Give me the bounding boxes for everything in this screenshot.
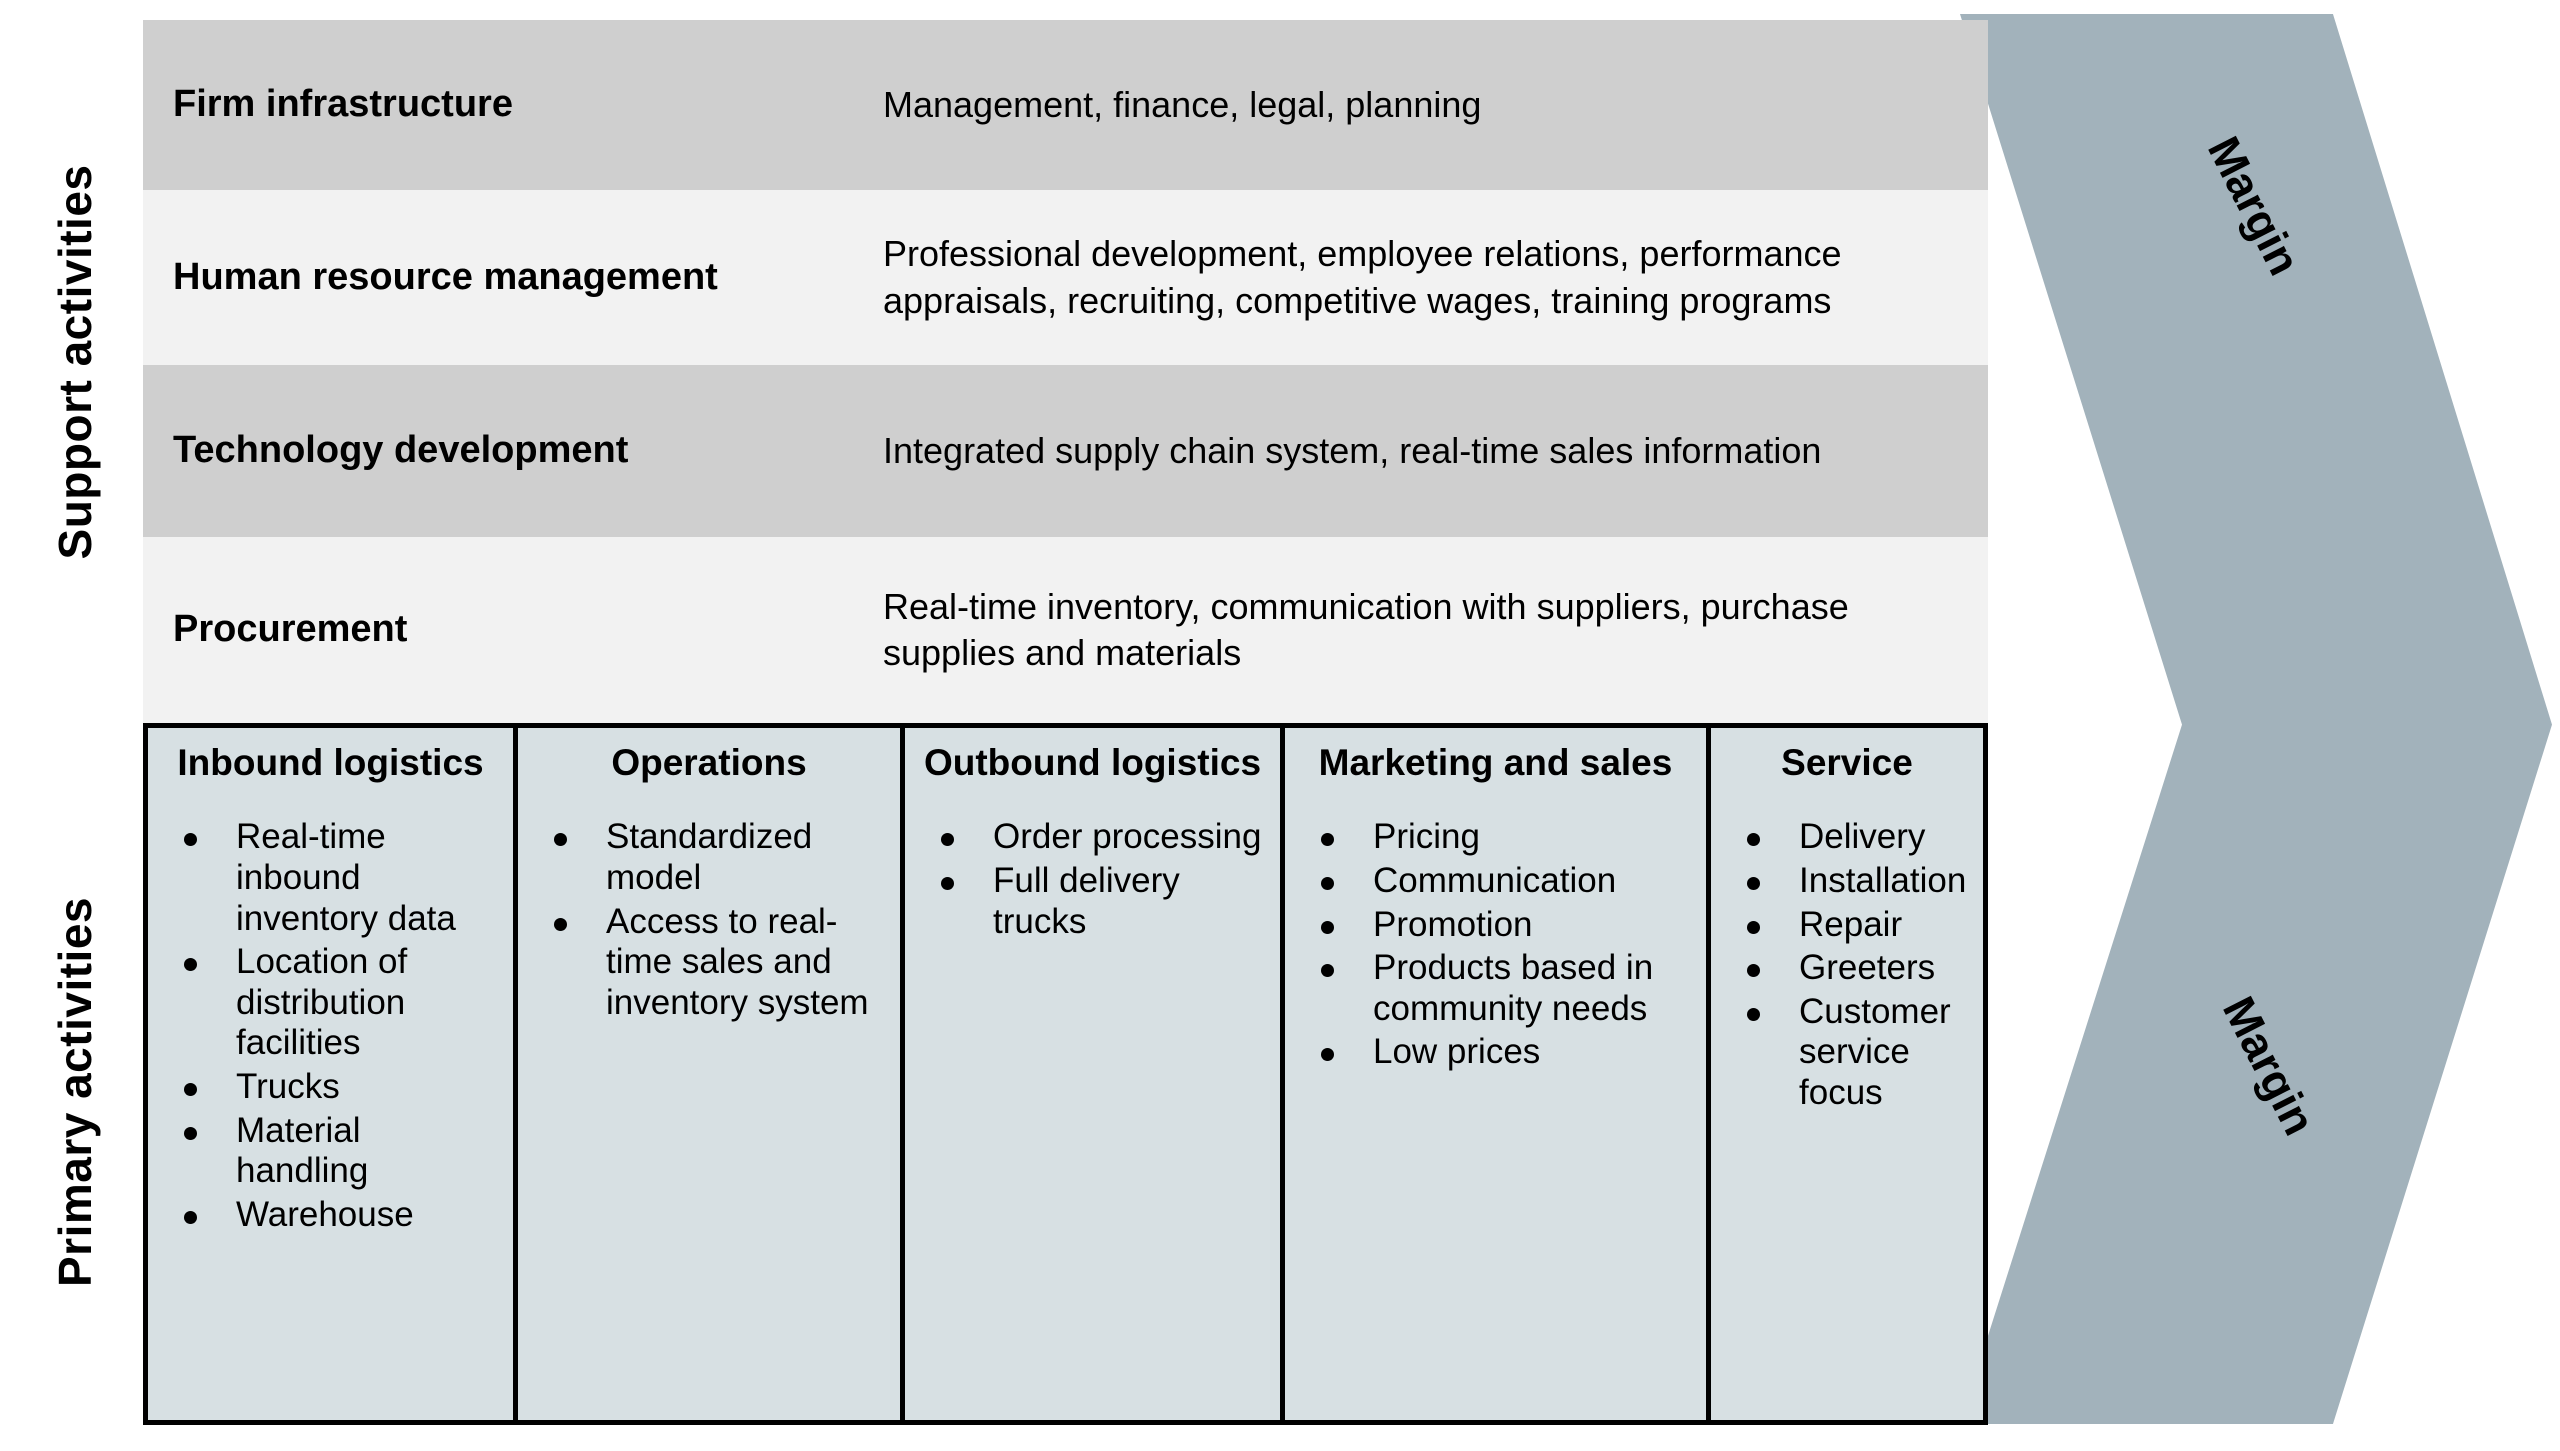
support-activities-block: Firm infrastructure Management, finance,… — [143, 20, 1988, 723]
primary-activities-block: Inbound logistics Real-time inbound inve… — [143, 723, 1988, 1425]
value-chain-diagram: Margin Margin Support activities Primary… — [0, 0, 2560, 1451]
list-item: Installation — [1731, 861, 1971, 902]
list-item: Real-time inbound inventory data — [168, 817, 501, 939]
support-row-description: Real-time inventory, communication with … — [883, 584, 1988, 676]
support-row-procurement: Procurement Real-time inventory, communi… — [143, 537, 1988, 723]
primary-column-title: Inbound logistics — [160, 742, 501, 783]
support-activities-axis-label: Support activities — [48, 102, 102, 622]
primary-column-marketing-and-sales: Marketing and sales PricingCommunication… — [1285, 728, 1711, 1420]
primary-column-title: Outbound logistics — [917, 742, 1268, 783]
list-item: Promotion — [1305, 905, 1694, 946]
support-row-description: Professional development, employee relat… — [883, 231, 1988, 323]
support-row-firm-infrastructure: Firm infrastructure Management, finance,… — [143, 20, 1988, 190]
primary-column-title: Operations — [530, 742, 888, 783]
list-item: Order processing — [925, 817, 1268, 858]
primary-column-title: Service — [1723, 742, 1971, 783]
primary-column-list: Order processingFull delivery trucks — [917, 817, 1268, 942]
list-item: Products based in community needs — [1305, 948, 1694, 1029]
list-item: Repair — [1731, 905, 1971, 946]
list-item: Full delivery trucks — [925, 861, 1268, 942]
primary-column-list: Real-time inbound inventory dataLocation… — [160, 817, 501, 1235]
list-item: Location of distribution facilities — [168, 942, 501, 1064]
support-row-name: Technology development — [173, 429, 883, 473]
list-item: Greeters — [1731, 948, 1971, 989]
support-row-name: Human resource management — [173, 256, 883, 300]
list-item: Pricing — [1305, 817, 1694, 858]
list-item: Access to real-time sales and inventory … — [538, 902, 888, 1024]
support-row-human-resource-management: Human resource management Professional d… — [143, 190, 1988, 365]
support-row-name: Firm infrastructure — [173, 83, 883, 127]
list-item: Standardized model — [538, 817, 888, 898]
list-item: Low prices — [1305, 1032, 1694, 1073]
primary-column-inbound-logistics: Inbound logistics Real-time inbound inve… — [148, 728, 518, 1420]
primary-column-title: Marketing and sales — [1297, 742, 1694, 783]
list-item: Material handling — [168, 1111, 501, 1192]
list-item: Delivery — [1731, 817, 1971, 858]
primary-column-list: Standardized modelAccess to real-time sa… — [530, 817, 888, 1023]
list-item: Communication — [1305, 861, 1694, 902]
list-item: Warehouse — [168, 1195, 501, 1236]
support-row-description: Management, finance, legal, planning — [883, 82, 1988, 128]
list-item: Customer service focus — [1731, 992, 1971, 1114]
primary-column-service: Service DeliveryInstallationRepairGreete… — [1711, 728, 1983, 1420]
support-row-description: Integrated supply chain system, real-tim… — [883, 428, 1988, 474]
list-item: Trucks — [168, 1067, 501, 1108]
primary-column-list: DeliveryInstallationRepairGreetersCustom… — [1723, 817, 1971, 1113]
support-row-technology-development: Technology development Integrated supply… — [143, 365, 1988, 537]
primary-column-outbound-logistics: Outbound logistics Order processingFull … — [905, 728, 1285, 1420]
support-row-name: Procurement — [173, 608, 883, 652]
primary-column-operations: Operations Standardized modelAccess to r… — [518, 728, 905, 1420]
primary-column-list: PricingCommunicationPromotionProducts ba… — [1297, 817, 1694, 1073]
primary-activities-axis-label: Primary activities — [48, 822, 102, 1362]
